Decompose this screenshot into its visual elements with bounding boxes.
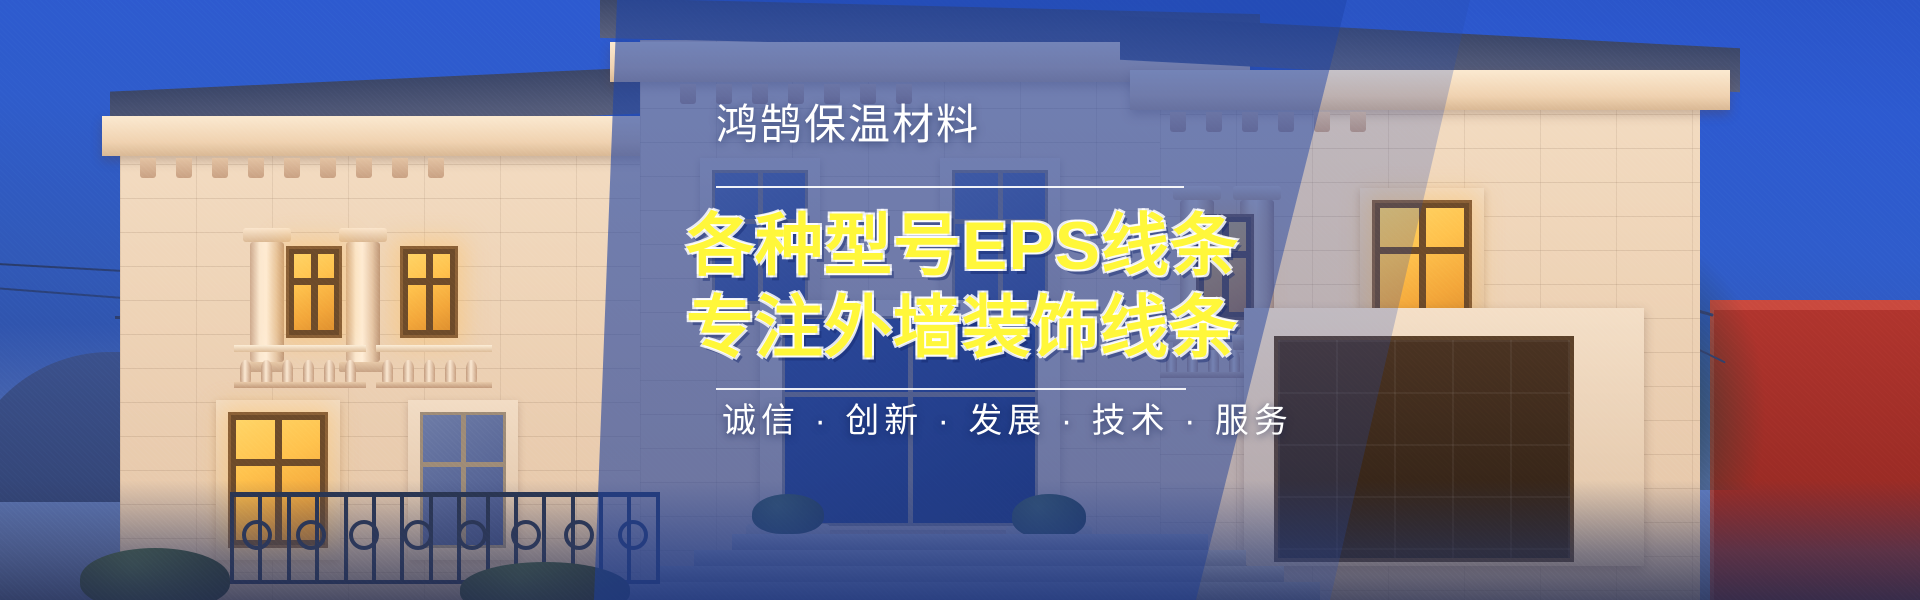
promo-banner: 鸿鹄保温材料 各种型号EPS线条 专注外墙装饰线条 诚信 · 创新 · 发展 ·…	[0, 0, 1920, 600]
divider-top	[716, 186, 1184, 188]
headline-line-1: 各种型号EPS线条	[686, 208, 1239, 284]
tagline: 诚信 · 创新 · 发展 · 技术 · 服务	[722, 404, 1293, 438]
brand-name: 鸿鹄保温材料	[716, 104, 980, 146]
divider-bottom	[716, 388, 1186, 390]
headline-line-2: 专注外墙装饰线条	[686, 290, 1238, 366]
banner-content: 鸿鹄保温材料 各种型号EPS线条 专注外墙装饰线条 诚信 · 创新 · 发展 ·…	[0, 0, 1920, 600]
